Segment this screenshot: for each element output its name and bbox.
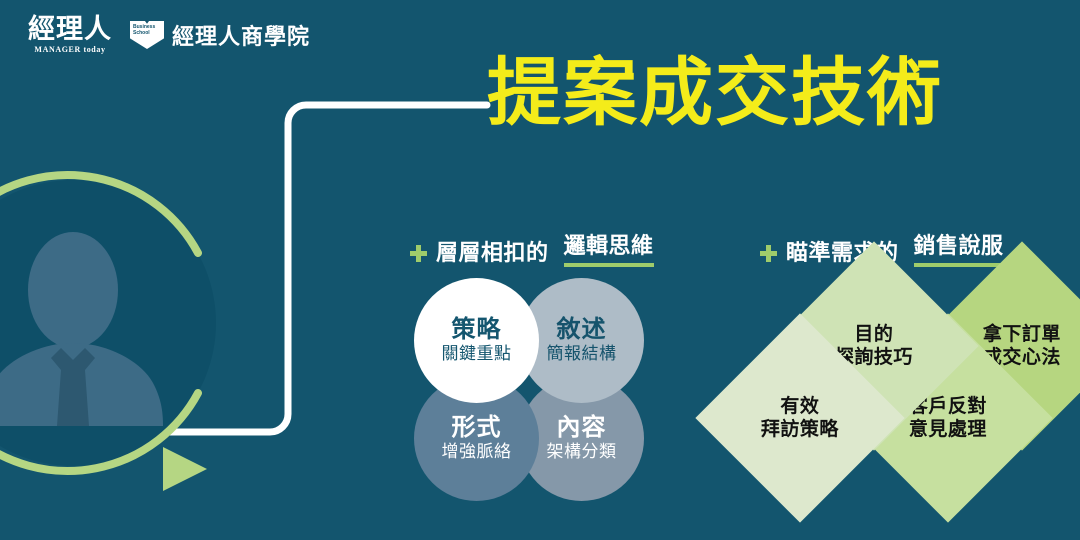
diamond-item-purpose-line1: 目的 bbox=[835, 323, 913, 346]
business-school-logo-cn: 經理人商學院 bbox=[172, 19, 310, 51]
circle-item-content-subtitle: 架構分類 bbox=[547, 442, 617, 462]
plus-icon bbox=[760, 245, 777, 262]
circle-item-form-title: 形式 bbox=[452, 415, 502, 440]
section-heading-logic-plain: 層層相扣的 bbox=[436, 235, 549, 267]
diamond-item-visit-line1: 有效 bbox=[761, 395, 839, 418]
plus-icon bbox=[410, 245, 427, 262]
business-school-logo: Business School 經理人商學院 bbox=[130, 19, 310, 51]
circle-item-narrative-title: 敘述 bbox=[557, 317, 607, 342]
book-icon-label-line2: School bbox=[133, 30, 148, 36]
circle-item-narrative-subtitle: 簡報結構 bbox=[547, 344, 617, 364]
slide-canvas: 經理人 MANAGER today Business School 經理人商學院 bbox=[0, 0, 1080, 540]
diamond-item-visit-line2: 拜訪策略 bbox=[761, 418, 839, 441]
circular-arc-icon bbox=[0, 158, 238, 488]
circle-item-content-title: 內容 bbox=[557, 415, 607, 440]
circle-diagram: 策略 關鍵重點 敘述 簡報結構 形式 增強脈絡 內容 架構分類 bbox=[406, 278, 656, 503]
open-book-icon: Business School bbox=[130, 21, 164, 49]
section-heading-logic: 層層相扣的 邏輯思維 bbox=[410, 228, 654, 267]
diamond-diagram: 有效 拜訪策略 目的 探詢技巧 客戶反對 意見處理 拿下訂單 成交心法 bbox=[716, 282, 1052, 504]
manager-today-logo-en: MANAGER today bbox=[34, 46, 105, 54]
circle-item-strategy-subtitle: 關鍵重點 bbox=[442, 344, 512, 364]
page-title: 提案成交技術 bbox=[487, 56, 943, 130]
diamond-item-closing-line1: 拿下訂單 bbox=[983, 323, 1061, 346]
circle-item-strategy-title: 策略 bbox=[452, 317, 502, 342]
diamond-item-objection-line2: 意見處理 bbox=[909, 418, 987, 441]
manager-today-logo: 經理人 MANAGER today bbox=[28, 16, 112, 54]
avatar bbox=[0, 158, 238, 488]
section-heading-logic-highlight: 邏輯思維 bbox=[564, 228, 654, 267]
section-heading-sales-highlight: 銷售說服 bbox=[914, 228, 1004, 267]
circle-item-strategy: 策略 關鍵重點 bbox=[414, 278, 539, 403]
logo-bar: 經理人 MANAGER today Business School 經理人商學院 bbox=[28, 16, 310, 54]
play-triangle-icon bbox=[163, 447, 207, 491]
manager-today-logo-cn: 經理人 bbox=[28, 16, 112, 43]
circle-item-form-subtitle: 增強脈絡 bbox=[442, 442, 512, 462]
